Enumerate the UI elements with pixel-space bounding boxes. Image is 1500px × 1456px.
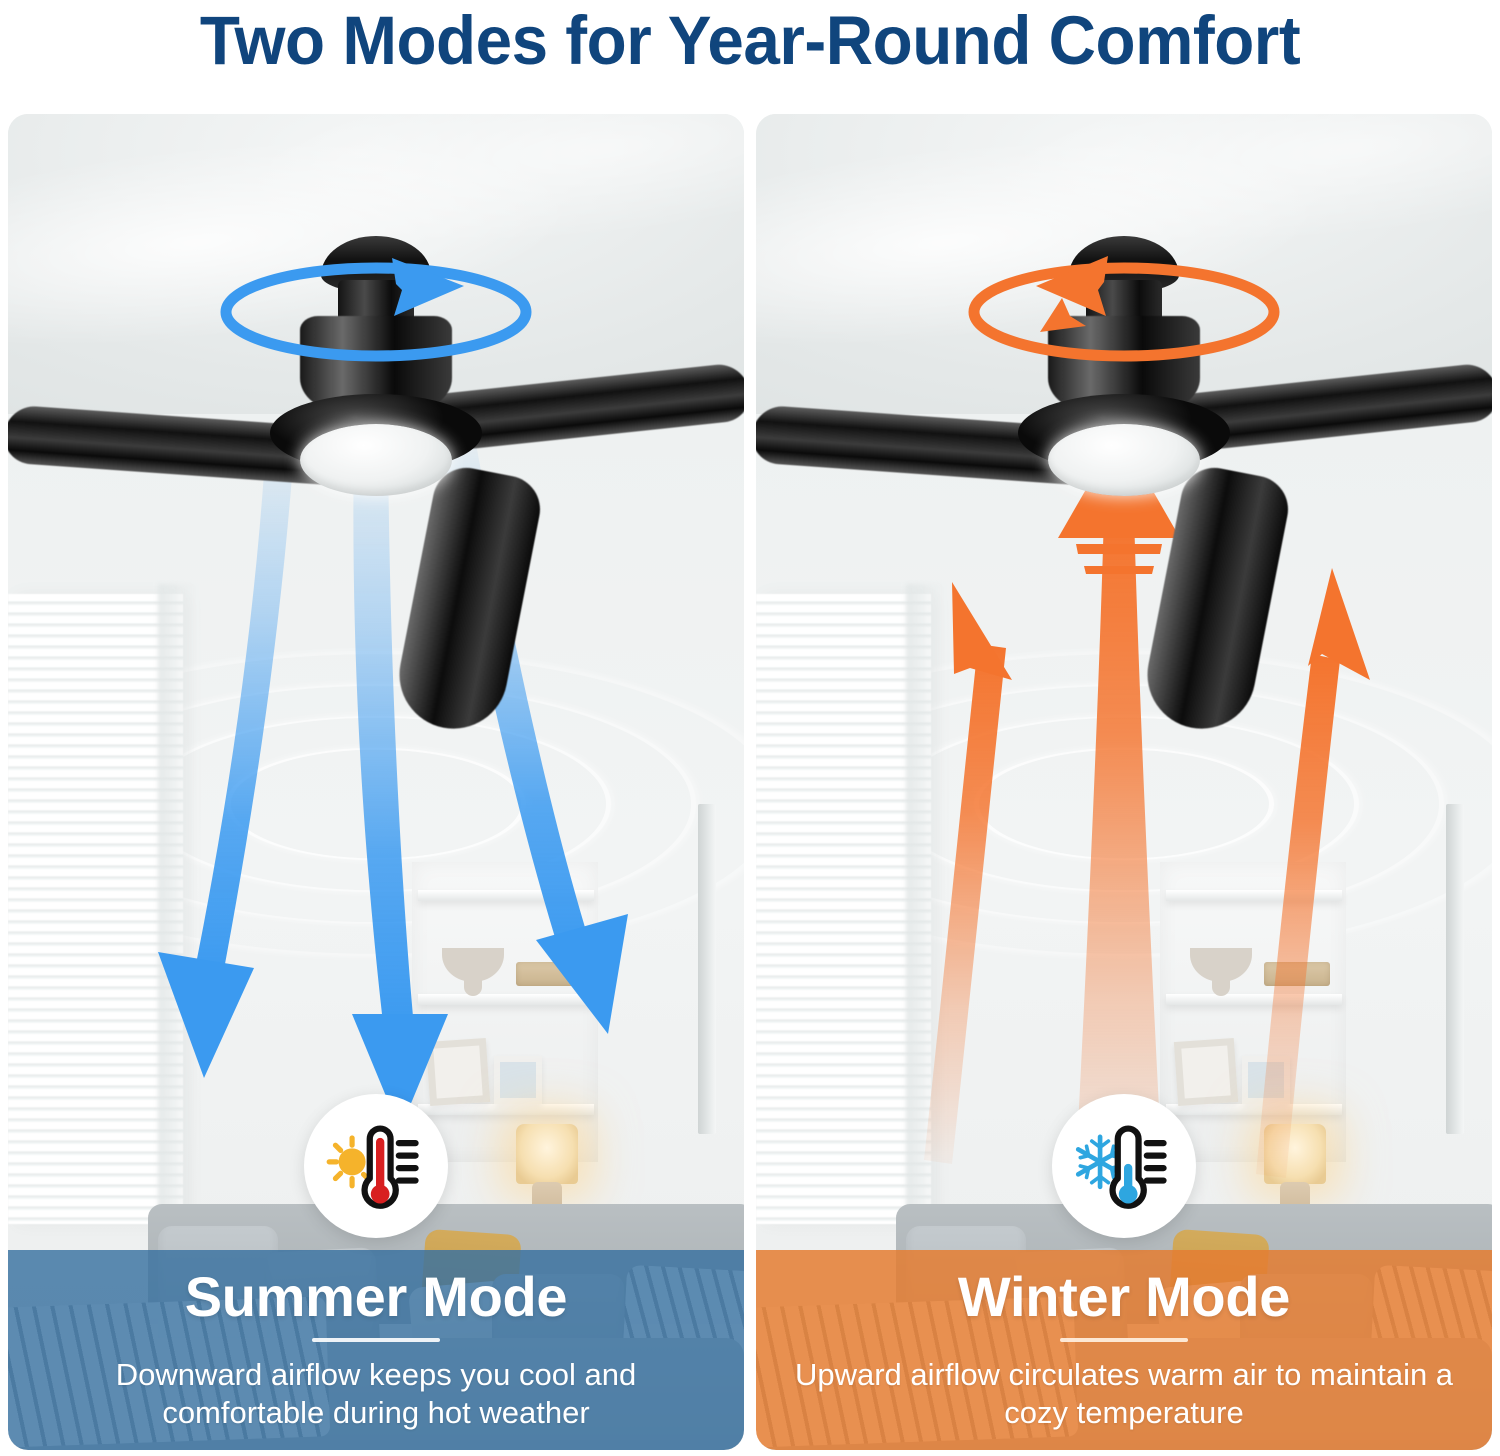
mode-panels: Summer Mode Downward airflow keeps you c… xyxy=(8,114,1492,1450)
table-lamp-shade xyxy=(516,1124,578,1184)
fan-light-kit xyxy=(1048,424,1200,496)
rotation-arrow-clockwise-icon xyxy=(196,240,556,370)
winter-mode-description: Upward airflow circulates warm air to ma… xyxy=(756,1356,1492,1432)
ceiling-fan-summer xyxy=(16,232,736,652)
shelf xyxy=(418,994,594,1005)
fan-light-kit xyxy=(300,424,452,496)
picture-frame-small xyxy=(494,1056,542,1104)
page-title: Two Modes for Year-Round Comfort xyxy=(38,2,1463,80)
panel-winter-mode[interactable]: Winter Mode Upward airflow circulates wa… xyxy=(756,114,1492,1450)
wall-art-frame xyxy=(698,804,716,1134)
shelf xyxy=(1166,994,1342,1005)
ceiling-fan-winter xyxy=(764,232,1484,652)
wall-art-frame xyxy=(1446,804,1464,1134)
wall-shelving-alcove xyxy=(1160,862,1346,1162)
woven-basket xyxy=(516,962,582,986)
winter-caption: Winter Mode Upward airflow circulates wa… xyxy=(756,1250,1492,1450)
table-lamp-shade xyxy=(1264,1124,1326,1184)
picture-frame-small xyxy=(1242,1056,1290,1104)
window-blinds xyxy=(756,594,931,1224)
caption-divider xyxy=(1060,1338,1188,1342)
sun-thermometer-hot-icon xyxy=(324,1114,428,1218)
window-blinds xyxy=(8,594,183,1224)
infographic-root: Two Modes for Year-Round Comfort xyxy=(0,0,1500,1456)
panel-summer-mode[interactable]: Summer Mode Downward airflow keeps you c… xyxy=(8,114,744,1450)
shelf xyxy=(1166,890,1342,901)
picture-frame-large xyxy=(1174,1038,1238,1106)
winter-mode-title: Winter Mode xyxy=(756,1266,1492,1328)
winter-mode-badge xyxy=(1052,1094,1196,1238)
shelf xyxy=(418,890,594,901)
picture-frame-large xyxy=(426,1038,490,1106)
summer-mode-description: Downward airflow keeps you cool and comf… xyxy=(8,1356,744,1432)
window-edge xyxy=(906,584,944,1234)
summer-mode-badge xyxy=(304,1094,448,1238)
shelf xyxy=(418,1104,594,1115)
rotation-arrow-counterclockwise-icon xyxy=(944,240,1304,370)
caption-divider xyxy=(312,1338,440,1342)
snowflake-thermometer-cold-icon xyxy=(1072,1114,1176,1218)
shelf xyxy=(1166,1104,1342,1115)
decor-bowl xyxy=(1190,948,1252,982)
wall-shelving-alcove xyxy=(412,862,598,1162)
window-edge xyxy=(158,584,196,1234)
decor-bowl xyxy=(442,948,504,982)
woven-basket xyxy=(1264,962,1330,986)
summer-mode-title: Summer Mode xyxy=(8,1266,744,1328)
summer-caption: Summer Mode Downward airflow keeps you c… xyxy=(8,1250,744,1450)
